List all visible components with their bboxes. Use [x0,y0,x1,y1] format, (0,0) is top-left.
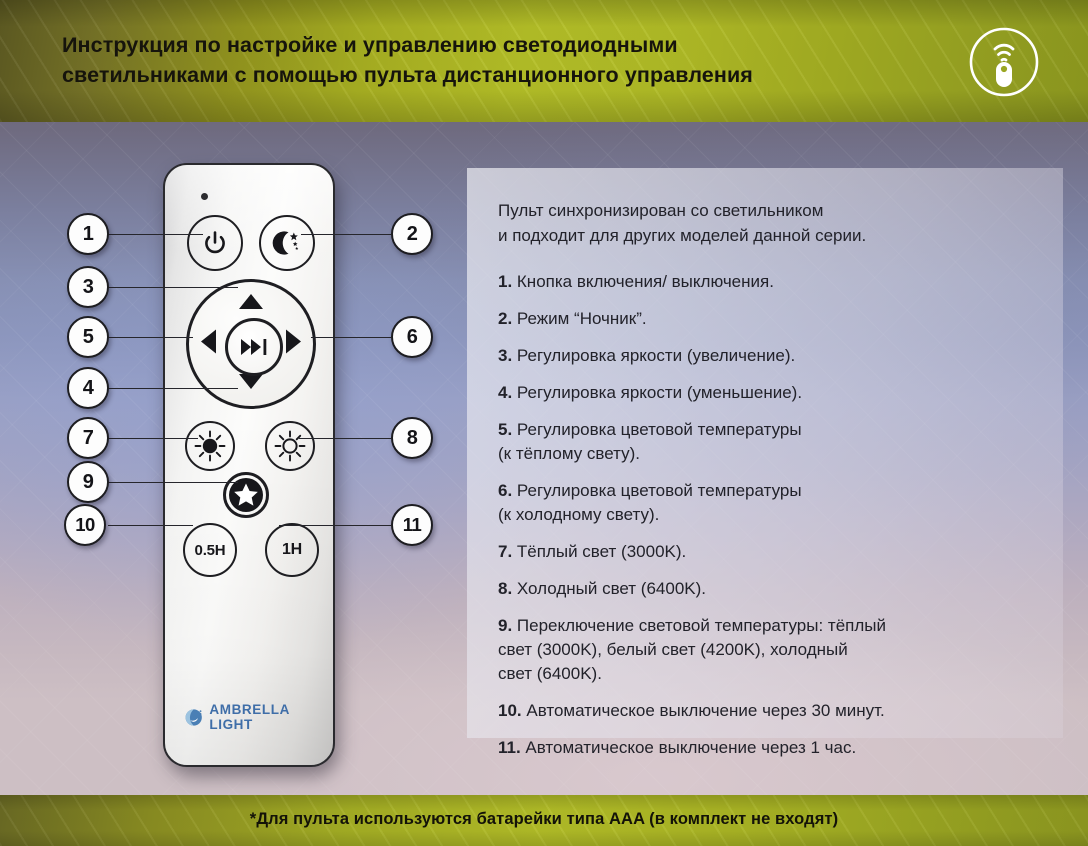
instruction-item-number: 11. [498,738,525,757]
instruction-list: 1. Кнопка включения/ выключения.2. Режим… [498,270,1049,760]
instruction-item-text: Регулировка цветовой температуры [517,481,802,500]
battery-note: *Для пульта используются батарейки типа … [0,810,1088,829]
brightness-down-button[interactable] [238,373,264,395]
ambrella-mark-icon [185,708,203,727]
play-pause-center-button[interactable] [225,318,283,376]
instruction-item-7: 7. Тёплый свет (3000K). [498,540,1049,564]
triangle-left-icon [200,329,217,355]
leader-line-5 [108,337,193,338]
instruction-text-panel: Пульт синхронизирован со светильником и … [467,168,1063,738]
callout-badge-4[interactable]: 4 [67,367,109,409]
instruction-item-10: 10. Автоматическое выключение через 30 м… [498,699,1049,723]
instruction-item-number: 7. [498,542,517,561]
sun-filled-icon [193,429,227,463]
instruction-item-number: 4. [498,383,517,402]
leader-line-7 [108,438,198,439]
instruction-item-text-cont: свет (6400K). [498,662,1049,686]
triangle-up-icon [238,293,264,310]
play-pause-icon [238,337,270,357]
callout-badge-6[interactable]: 6 [391,316,433,358]
callout-badge-5[interactable]: 5 [67,316,109,358]
instruction-item-number: 5. [498,420,517,439]
instruction-item-2: 2. Режим “Ночник”. [498,307,1049,331]
instruction-item-number: 3. [498,346,517,365]
instruction-item-text: Регулировка яркости (увеличение). [517,346,795,365]
power-button[interactable] [187,215,243,271]
instruction-item-text: Переключение световой температуры: тёплы… [517,616,886,635]
color-temp-warm-button[interactable] [200,329,217,360]
callout-badge-9[interactable]: 9 [67,461,109,503]
power-icon [202,230,228,256]
leader-line-4 [108,388,238,389]
timer-one-hour-button[interactable]: 1H [265,523,319,577]
instruction-item-text: Автоматическое выключение через 30 минут… [526,701,884,720]
instruction-item-1: 1. Кнопка включения/ выключения. [498,270,1049,294]
instruction-item-text: Автоматическое выключение через 1 час. [525,738,856,757]
instruction-item-11: 11. Автоматическое выключение через 1 ча… [498,736,1049,760]
instruction-item-number: 8. [498,579,517,598]
timer-half-hour-button[interactable]: 0.5H [183,523,237,577]
leader-line-8 [299,438,391,439]
leader-line-2 [301,234,391,235]
leader-line-9 [108,482,238,483]
instruction-item-text: Регулировка яркости (уменьшение). [517,383,802,402]
instruction-item-5: 5. Регулировка цветовой температуры(к тё… [498,418,1049,466]
instruction-item-text: Холодный свет (6400K). [517,579,706,598]
instruction-item-6: 6. Регулировка цветовой температуры(к хо… [498,479,1049,527]
instruction-item-3: 3. Регулировка яркости (увеличение). [498,344,1049,368]
instruction-item-number: 2. [498,309,517,328]
instruction-item-text: Регулировка цветовой температуры [517,420,802,439]
leader-line-1 [108,234,203,235]
remote-control-body: 0.5H 1H AMBRELLA LIGHT [163,163,335,767]
callout-badge-2[interactable]: 2 [391,213,433,255]
timer-half-hour-label: 0.5H [195,542,226,559]
sun-outline-icon [273,429,307,463]
instruction-item-text: Кнопка включения/ выключения. [517,272,774,291]
instruction-item-text-cont: (к тёплому свету). [498,442,1049,466]
star-filled-icon [226,475,266,515]
footer-bar: *Для пульта используются батарейки типа … [0,795,1088,846]
instruction-item-number: 1. [498,272,517,291]
instruction-item-text-cont: свет (3000K), белый свет (4200K), холодн… [498,638,1049,662]
remote-signal-icon [968,26,1040,98]
intro-text: Пульт синхронизирован со светильником и … [498,199,1049,248]
instruction-page: Инструкция по настройке и управлению све… [0,0,1088,846]
brand-logo: AMBRELLA LIGHT [185,702,333,732]
timer-one-hour-label: 1H [282,541,302,559]
callout-badge-8[interactable]: 8 [391,417,433,459]
instruction-item-text: Тёплый свет (3000K). [517,542,686,561]
callout-badge-7[interactable]: 7 [67,417,109,459]
ir-led-dot [201,193,208,200]
intro-line1: Пульт синхронизирован со светильником [498,201,823,220]
page-title-line1: Инструкция по настройке и управлению све… [62,33,678,57]
triangle-right-icon [285,329,302,355]
instruction-item-number: 6. [498,481,517,500]
instruction-item-8: 8. Холодный свет (6400K). [498,577,1049,601]
cool-light-button[interactable] [265,421,315,471]
instruction-item-text: Режим “Ночник”. [517,309,647,328]
leader-line-6 [311,337,391,338]
header-bar: Инструкция по настройке и управлению све… [0,0,1088,122]
brightness-up-button[interactable] [238,293,264,315]
directional-pad [186,279,316,409]
intro-line2: и подходит для других моделей данной сер… [498,224,1049,249]
instruction-item-text-cont: (к холодному свету). [498,503,1049,527]
warm-light-button[interactable] [185,421,235,471]
leader-line-10 [108,525,193,526]
instruction-item-4: 4. Регулировка яркости (уменьшение). [498,381,1049,405]
callout-badge-10[interactable]: 10 [64,504,106,546]
callout-badge-3[interactable]: 3 [67,266,109,308]
page-title-line2: светильниками с помощью пульта дистанцио… [62,60,902,90]
instruction-item-9: 9. Переключение световой температуры: тё… [498,614,1049,686]
callout-badge-1[interactable]: 1 [67,213,109,255]
page-title: Инструкция по настройке и управлению све… [62,30,902,90]
moon-stars-icon [272,229,302,257]
callout-badge-11[interactable]: 11 [391,504,433,546]
leader-line-3 [108,287,238,288]
color-temp-cool-button[interactable] [285,329,302,360]
color-temp-cycle-button[interactable] [223,472,269,518]
instruction-item-number: 9. [498,616,517,635]
night-mode-button[interactable] [259,215,315,271]
leader-line-11 [279,525,391,526]
instruction-item-number: 10. [498,701,526,720]
brand-name: AMBRELLA LIGHT [209,702,333,732]
